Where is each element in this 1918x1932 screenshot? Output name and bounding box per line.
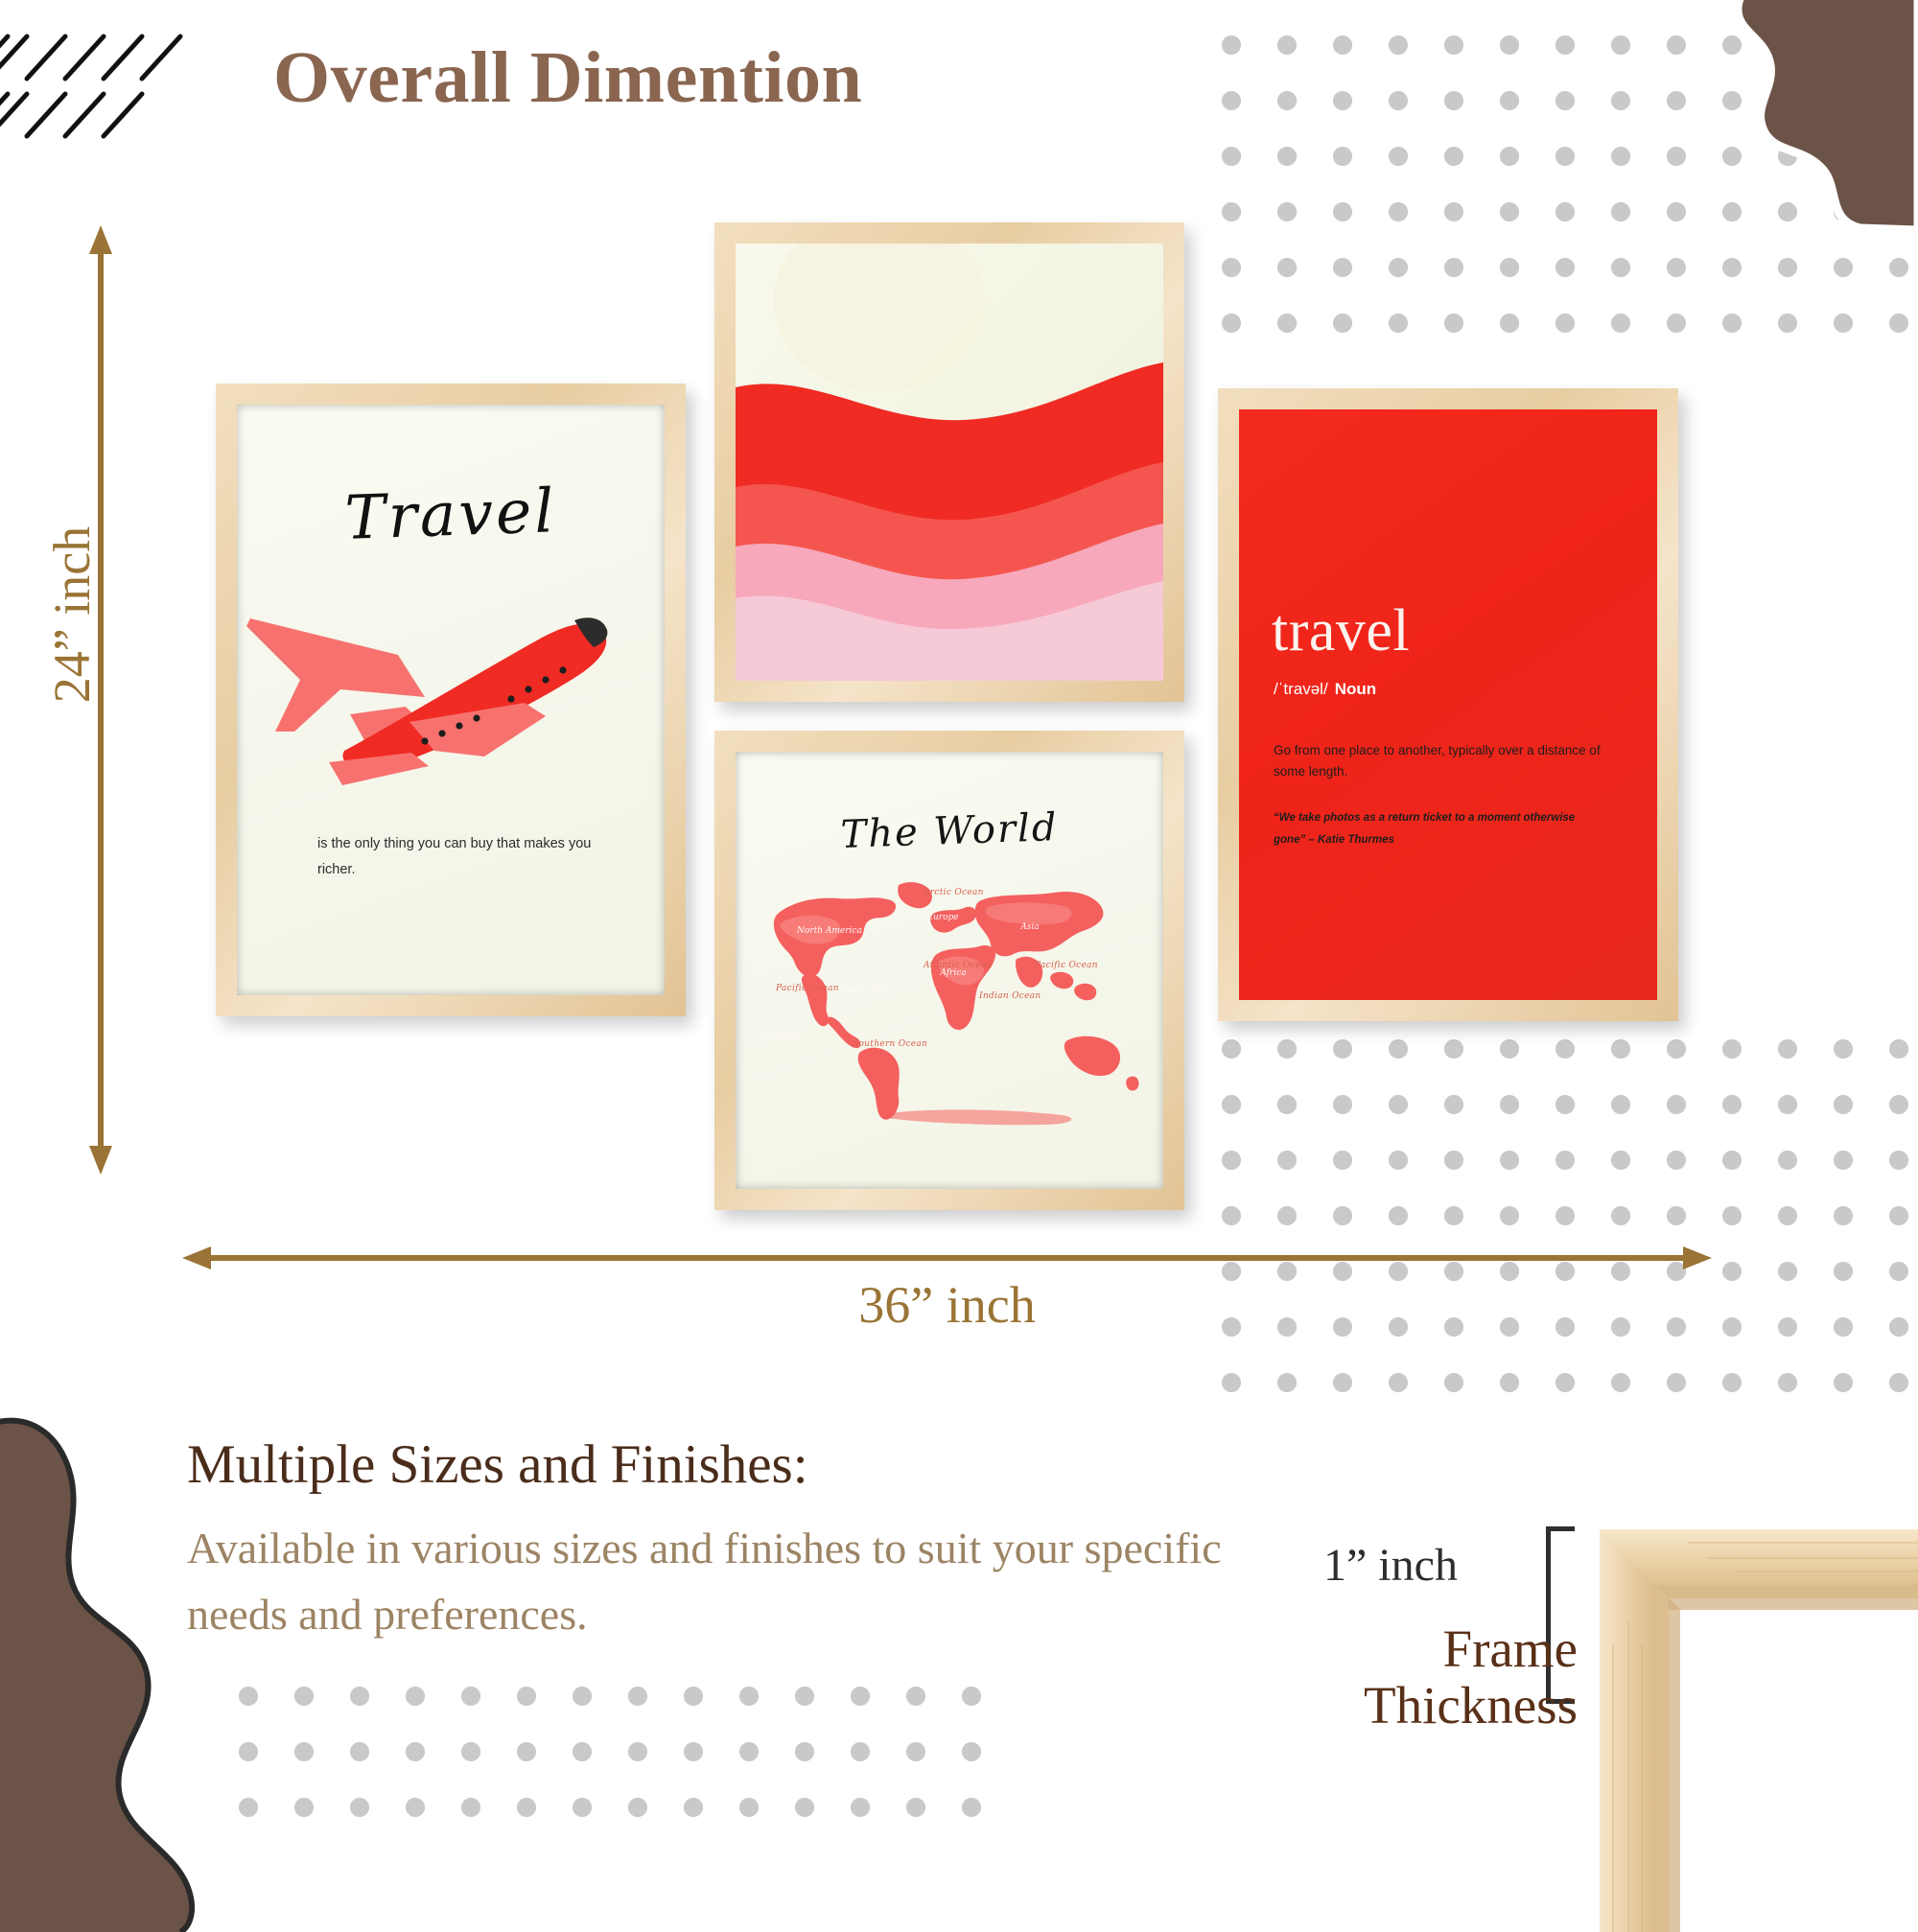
brown-blob-top-right-icon — [1630, 0, 1918, 230]
diagonal-hatch-lines-icon — [0, 19, 201, 144]
airplane-illustration-icon — [237, 563, 665, 803]
width-dimension-label: 36” inch — [182, 1275, 1712, 1335]
frame-corner-sample — [1592, 1529, 1918, 1932]
definition-quote: “We take photos as a return ticket to a … — [1274, 807, 1590, 851]
map-label-indian-ocean: Indian Ocean — [979, 991, 1041, 1001]
map-label-australia: Australia — [755, 1032, 808, 1041]
bottom-heading: Multiple Sizes and Finishes: — [187, 1433, 808, 1496]
bottom-body-text: Available in various sizes and finishes … — [187, 1515, 1242, 1647]
map-label-pacific-ocean-left: Pacific Ocean — [776, 984, 839, 993]
map-label-africa: Africa — [933, 968, 973, 978]
map-label-south-america: South America — [841, 986, 902, 995]
frame-travel-plane[interactable]: Travel is the only thing you can buy tha… — [216, 384, 686, 1016]
map-label-asia: Asia — [1014, 922, 1046, 932]
dot-pattern-bottom-left — [221, 1668, 988, 1841]
poster-abstract-canvas — [736, 244, 1163, 681]
thickness-caption-line1: Frame — [1442, 1619, 1578, 1678]
height-dimension-label: 24” inch — [42, 490, 102, 739]
poster-definition-canvas: travel /ˈtravəl/Noun Go from one place t… — [1239, 409, 1657, 1000]
map-label-north-america: North America — [797, 926, 858, 936]
dot-pattern-top-right — [1204, 17, 1918, 334]
map-label-pacific-ocean-right: Pacific Ocean — [1035, 961, 1098, 970]
page-title: Overall Dimention — [273, 36, 862, 120]
poster-world-map-canvas: The World — [736, 752, 1163, 1189]
definition-word: travel — [1272, 597, 1410, 665]
abstract-waves-illustration-icon — [736, 244, 1163, 681]
world-script-title: The World — [840, 805, 1059, 857]
horizontal-dimension-arrow — [182, 1242, 1712, 1274]
thickness-value-label: 1” inch — [1323, 1539, 1458, 1592]
pronunciation-text: /ˈtravəl/ — [1274, 680, 1328, 698]
map-label-southern-ocean: Southern Ocean — [853, 1039, 927, 1049]
world-map-illustration-icon — [745, 872, 1154, 1130]
definition-pronunciation: /ˈtravəl/Noun — [1274, 680, 1376, 699]
dot-pattern-mid-right — [1204, 1021, 1918, 1405]
travel-plane-quote: is the only thing you can buy that makes… — [317, 831, 596, 883]
map-label-arctic-ocean: Arctic Ocean — [924, 888, 984, 897]
map-label-europe: Europe — [924, 913, 962, 922]
frame-abstract-waves[interactable] — [714, 222, 1184, 702]
part-of-speech: Noun — [1335, 680, 1376, 698]
thickness-caption-line2: Thickness — [1194, 1677, 1578, 1734]
frame-travel-definition[interactable]: travel /ˈtravəl/Noun Go from one place t… — [1218, 388, 1678, 1021]
frame-world-map[interactable]: The World — [714, 731, 1184, 1210]
definition-meaning: Go from one place to another, typically … — [1274, 740, 1628, 783]
poster-travel-plane-canvas: Travel is the only thing you can buy tha… — [237, 405, 665, 995]
travel-script-title: Travel — [343, 476, 557, 553]
thickness-caption: Frame Thickness — [1194, 1620, 1578, 1734]
